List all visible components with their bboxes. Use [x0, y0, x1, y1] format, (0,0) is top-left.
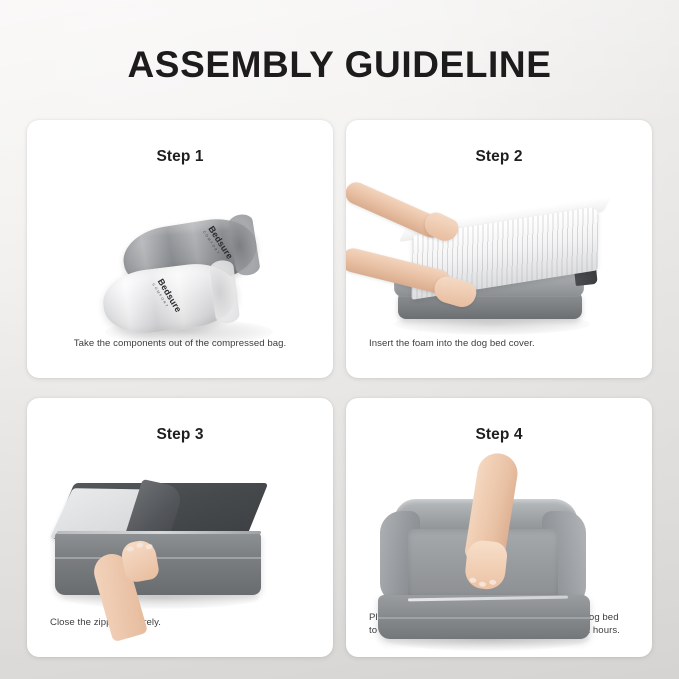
- step-card-3[interactable]: Step 3 Close the zipper securely.: [27, 398, 333, 657]
- steps-grid: Step 1 Bedsure COMFORT Bedsure COMFORT: [27, 120, 652, 657]
- fingernail: [479, 581, 486, 587]
- fingernail: [136, 542, 144, 548]
- step-2-figure: [346, 167, 652, 337]
- step-3-caption: Close the zipper securely.: [27, 616, 333, 629]
- assembly-guideline-page: ASSEMBLY GUIDELINE Step 1 Bedsure COMFOR…: [0, 0, 679, 679]
- step-card-1[interactable]: Step 1 Bedsure COMFORT Bedsure COMFORT: [27, 120, 333, 378]
- fingernail: [126, 546, 134, 552]
- step-1-title: Step 1: [27, 147, 333, 167]
- roll-brand-grey: Bedsure COMFORT: [202, 224, 235, 264]
- bed-side-seam: [55, 557, 261, 559]
- fingernail: [469, 577, 476, 583]
- fingernail: [145, 544, 153, 550]
- step-4-title: Step 4: [346, 425, 652, 445]
- zipper-icon: [57, 531, 261, 534]
- step-4-figure: [346, 445, 652, 611]
- fingernail: [489, 579, 496, 585]
- bed-side-panel-icon: [55, 533, 261, 595]
- roll-brand-white: Bedsure COMFORT: [151, 277, 183, 317]
- step-1-figure: Bedsure COMFORT Bedsure COMFORT: [27, 167, 333, 337]
- step-2-title: Step 2: [346, 147, 652, 167]
- step-3-figure: [27, 445, 333, 616]
- step-2-caption: Insert the foam into the dog bed cover.: [346, 337, 652, 350]
- step-card-2[interactable]: Step 2 Insert the foam into the dog bed …: [346, 120, 652, 378]
- page-title: ASSEMBLY GUIDELINE: [0, 42, 679, 88]
- step-card-4[interactable]: Step 4 Please beat the sponge thoroughly…: [346, 398, 652, 657]
- compressed-roll-white-icon: Bedsure COMFORT: [100, 259, 241, 338]
- bed-base-seam: [378, 617, 590, 619]
- step-1-caption: Take the components out of the compresse…: [27, 337, 333, 350]
- step-3-title: Step 3: [27, 425, 333, 445]
